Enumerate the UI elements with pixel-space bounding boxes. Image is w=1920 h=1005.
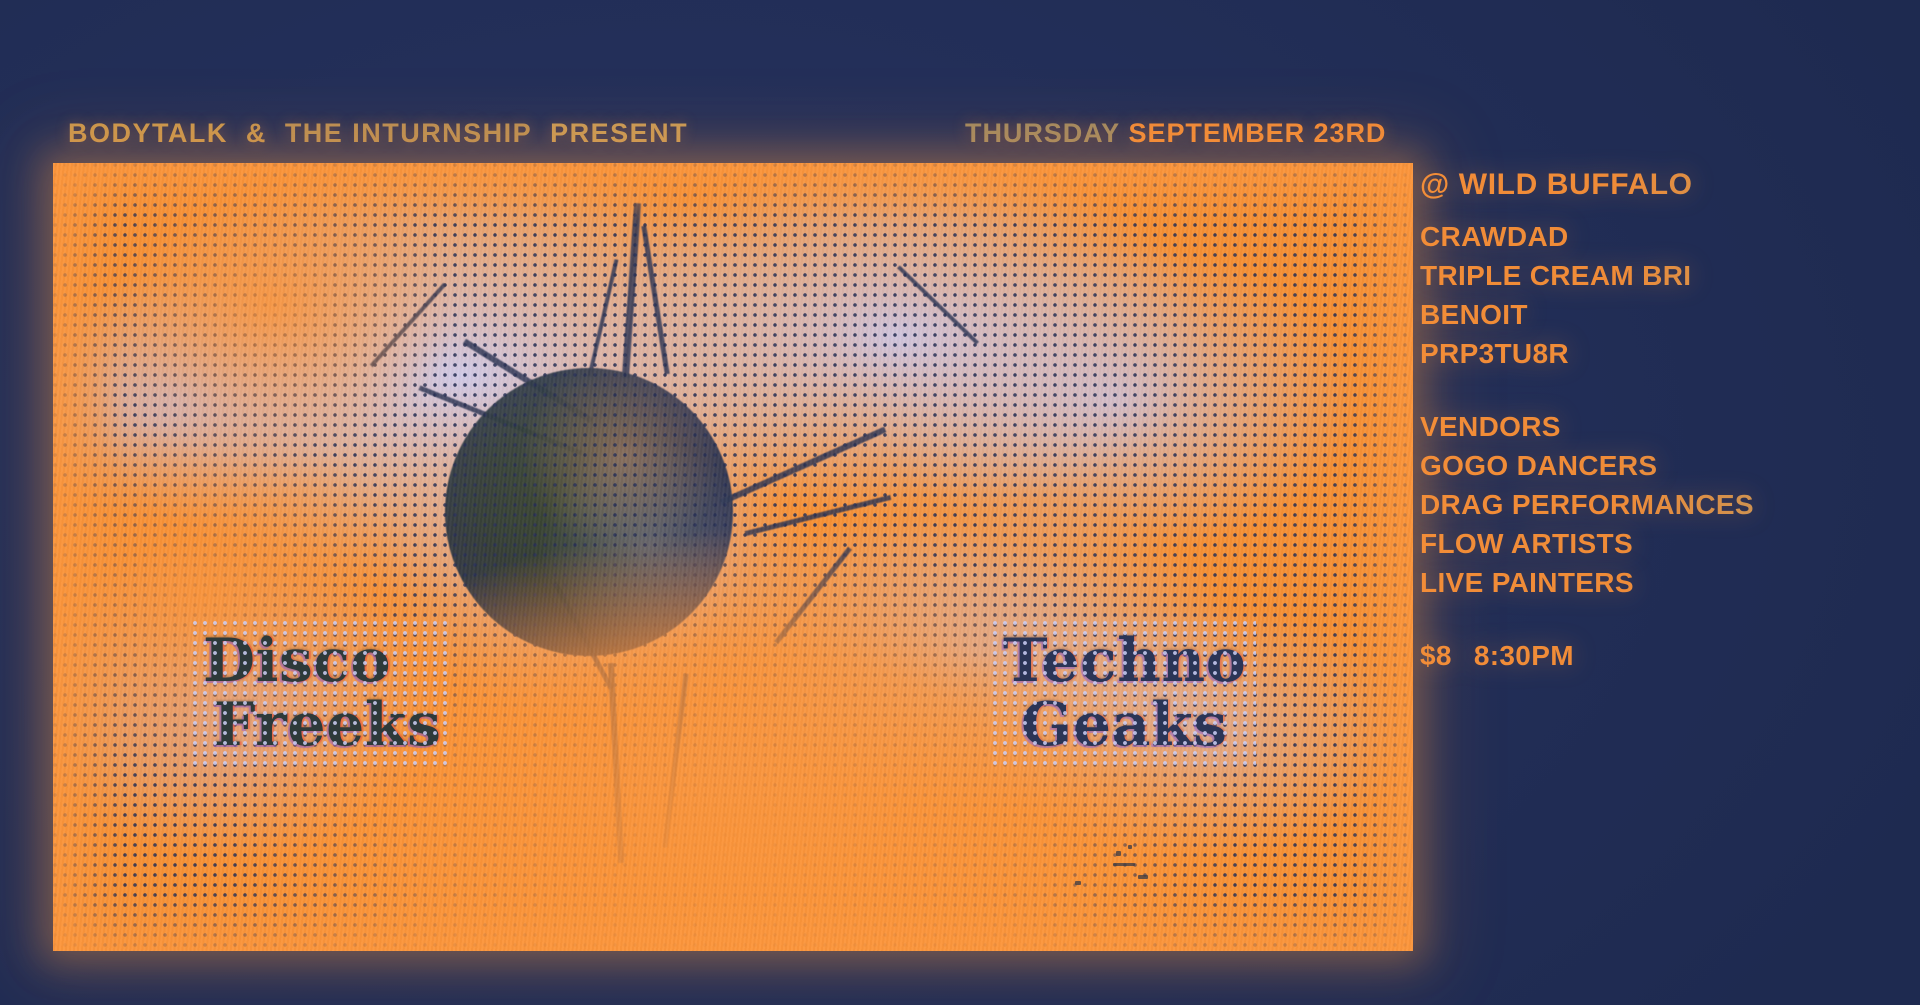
headline-geaks: Geaks [1021,695,1246,755]
price-and-time-line: $88:30PM [1420,636,1890,675]
artwork-speck [1075,881,1081,885]
event-date: SEPTEMBER 23RD [1129,118,1387,148]
artwork-headline-left: Disco Freeks [203,631,441,755]
lineup-item: PRP3TU8R [1420,334,1890,373]
presenter-ampersand: & [246,118,267,148]
headline-disco: Disco [203,626,391,696]
artwork-headline-right: Techno Geaks [1003,631,1246,755]
artwork-speck [1113,863,1135,866]
attraction-item: LIVE PAINTERS [1420,563,1890,602]
poster-artwork: Disco Freeks Techno Geaks [53,163,1413,951]
event-weekday: THURSDAY [965,118,1120,148]
disco-ball-highlight [445,368,733,656]
lineup-item: BENOIT [1420,295,1890,334]
door-time: 8:30PM [1474,640,1574,671]
artwork-speck [1116,851,1121,856]
ticket-price: $8 [1420,640,1452,671]
event-date-line: THURSDAY SEPTEMBER 23RD [965,118,1386,149]
flyer-header: BODYTALK & THE INTURNSHIP PRESENT THURSD… [0,118,1920,166]
presenters-present-word: PRESENT [550,118,688,148]
attraction-item: DRAG PERFORMANCES [1420,485,1890,524]
presenter-inturnship: THE INTURNSHIP [285,118,532,148]
flyer-details-sidebar: @ WILD BUFFALO CRAWDAD TRIPLE CREAM BRI … [1420,163,1890,675]
headline-freeks: Freeks [213,695,441,755]
artwork-speck [1128,845,1132,849]
event-flyer: BODYTALK & THE INTURNSHIP PRESENT THURSD… [0,0,1920,1005]
headline-techno: Techno [1003,626,1246,696]
lineup-list: CRAWDAD TRIPLE CREAM BRI BENOIT PRP3TU8R [1420,217,1890,373]
attractions-list: VENDORS GOGO DANCERS DRAG PERFORMANCES F… [1420,407,1890,602]
venue-line: @ WILD BUFFALO [1420,163,1890,207]
presenter-bodytalk: BODYTALK [68,118,228,148]
artwork-speck [1138,875,1148,879]
attraction-item: VENDORS [1420,407,1890,446]
attraction-item: FLOW ARTISTS [1420,524,1890,563]
starburst-splatter [53,163,1413,951]
presenters-line: BODYTALK & THE INTURNSHIP PRESENT [68,118,688,149]
lineup-item: TRIPLE CREAM BRI [1420,256,1890,295]
lineup-item: CRAWDAD [1420,217,1890,256]
attraction-item: GOGO DANCERS [1420,446,1890,485]
